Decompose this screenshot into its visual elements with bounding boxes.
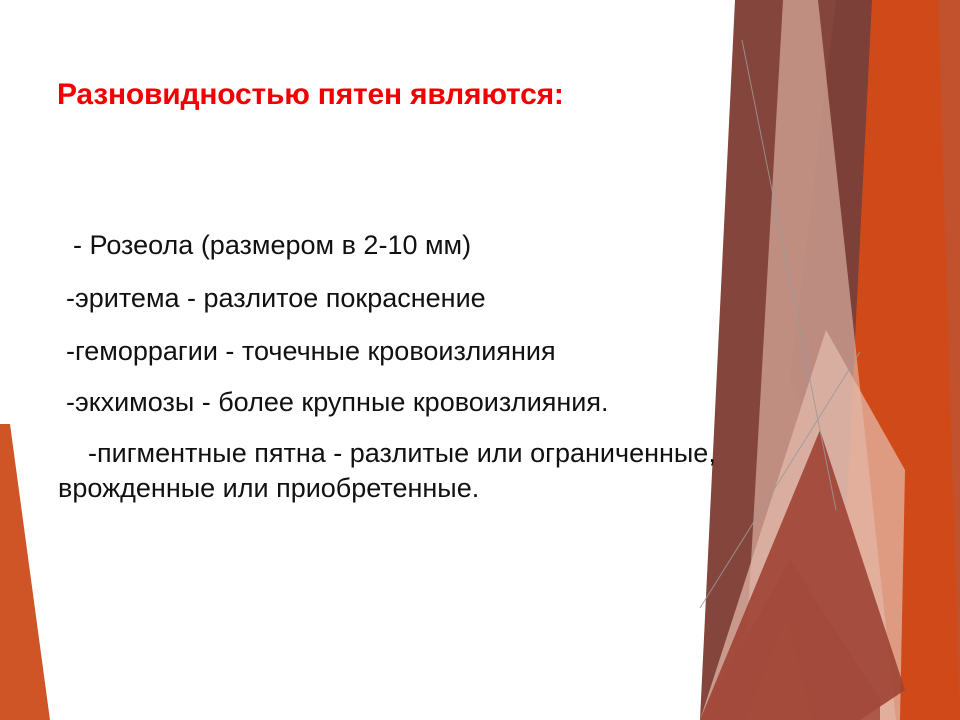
- list-item: - Розеола (размером в 2-10 мм): [66, 228, 716, 263]
- shape-orange-right-column: [880, 0, 960, 720]
- shape-left-orange-wedge: [0, 424, 50, 720]
- hairline-diagonal-lower: [700, 352, 860, 608]
- shape-pink-sheet-upper: [742, 0, 896, 720]
- shape-brown-slab: [700, 0, 868, 720]
- shape-pink-sheet-lower: [700, 330, 905, 720]
- hairline-diagonal-upper: [742, 40, 836, 510]
- list-item: -пигментные пятна - разлитые или огранич…: [58, 436, 723, 506]
- list-item: -экхимозы - более крупные кровоизлияния.: [66, 385, 716, 420]
- shape-brown-dark-triangle: [790, 0, 872, 520]
- list-item: -геморрагии - точечные кровоизлияния: [66, 334, 716, 369]
- shape-orange-main: [760, 0, 960, 720]
- shape-redbrown-bottom-band: [700, 560, 880, 720]
- slide-canvas: Разновидностью пятен являются: - Розеола…: [0, 0, 960, 720]
- list-item: -эритема - разлитое покраснение: [66, 281, 716, 316]
- page-title: Разновидностью пятен являются:: [57, 78, 697, 113]
- shape-redbrown-diagonal: [700, 430, 905, 720]
- content-list: - Розеола (размером в 2-10 мм) -эритема …: [66, 228, 716, 525]
